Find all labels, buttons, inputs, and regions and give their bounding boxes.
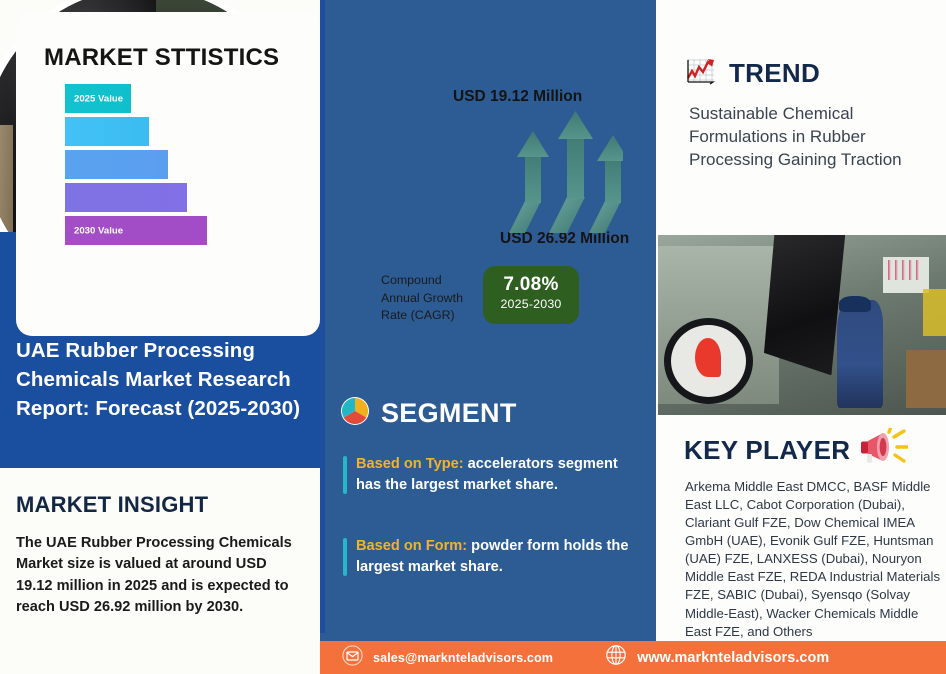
- footer-email-group[interactable]: sales@marknteladvisors.com: [342, 645, 553, 671]
- segment-type-key: Based on Type:: [356, 456, 464, 472]
- statistics-title: MARKET STTISTICS: [44, 44, 279, 72]
- cagr-value: 7.08%: [483, 274, 579, 296]
- photo-operator-cap: [839, 296, 871, 312]
- segment-header: SEGMENT: [340, 396, 517, 431]
- megaphone-icon: [858, 428, 908, 473]
- envelope-icon: [342, 645, 363, 671]
- bar-interim-1: [65, 117, 149, 146]
- key-player-header: KEY PLAYER: [684, 428, 908, 473]
- key-player-title: KEY PLAYER: [684, 435, 850, 466]
- trend-chart-icon: [686, 56, 720, 91]
- right-panel: TREND Sustainable Chemical Formulations …: [656, 0, 946, 674]
- bar-label-2030: 2030 Value: [74, 225, 123, 236]
- footer-website[interactable]: www.marknteladvisors.com: [637, 650, 829, 666]
- segment-item-form: Based on Form: powder form holds the lar…: [343, 536, 633, 578]
- pie-chart-icon: [340, 396, 370, 431]
- segment-item-type: Based on Type: accelerators segment has …: [343, 454, 633, 496]
- footer-email[interactable]: sales@marknteladvisors.com: [373, 651, 553, 665]
- market-statistics-bar-chart: 2025 Value 2030 Value: [65, 84, 180, 249]
- cagr-badge: 7.08% 2025-2030: [483, 266, 579, 324]
- photo-right-control-lights: [888, 260, 920, 280]
- trend-body: Sustainable Chemical Formulations in Rub…: [689, 102, 937, 171]
- bar-interim-2: [65, 150, 168, 179]
- middle-left-accent-stripe: [320, 0, 325, 674]
- cagr-range: 2025-2030: [483, 297, 579, 311]
- bar-interim-3: [65, 183, 187, 212]
- trend-title: TREND: [729, 58, 820, 89]
- report-title: UAE Rubber Processing Chemicals Market R…: [16, 336, 308, 423]
- cagr-label: Compound Annual Growth Rate (CAGR): [381, 272, 477, 325]
- trend-header: TREND: [686, 56, 820, 91]
- bar-2030: 2030 Value: [65, 216, 207, 245]
- photo-wooden-crate: [906, 350, 946, 408]
- footer-bar: sales@marknteladvisors.com www.markntela…: [320, 641, 946, 674]
- rubber-machine-photo: [658, 235, 946, 415]
- market-insight-body: The UAE Rubber Processing Chemicals Mark…: [16, 533, 306, 619]
- bar-label-2025: 2025 Value: [74, 93, 123, 104]
- segment-form-key: Based on Form:: [356, 538, 467, 554]
- footer-website-group[interactable]: www.marknteladvisors.com: [605, 644, 829, 671]
- growth-arrows-icon: [505, 105, 623, 235]
- globe-icon: [605, 644, 627, 671]
- photo-red-handle: [695, 338, 721, 378]
- bar-2025: 2025 Value: [65, 84, 131, 113]
- photo-operator: [837, 300, 883, 408]
- infographic-canvas: UAE Rubber Processing Chemicals Market R…: [0, 0, 946, 674]
- key-player-body: Arkema Middle East DMCC, BASF Middle Eas…: [685, 478, 941, 641]
- value-2025: USD 19.12 Million: [453, 88, 582, 106]
- photo-yellow-equipment: [923, 289, 946, 336]
- segment-title: SEGMENT: [381, 398, 517, 429]
- market-insight-heading: MARKET INSIGHT: [16, 492, 306, 518]
